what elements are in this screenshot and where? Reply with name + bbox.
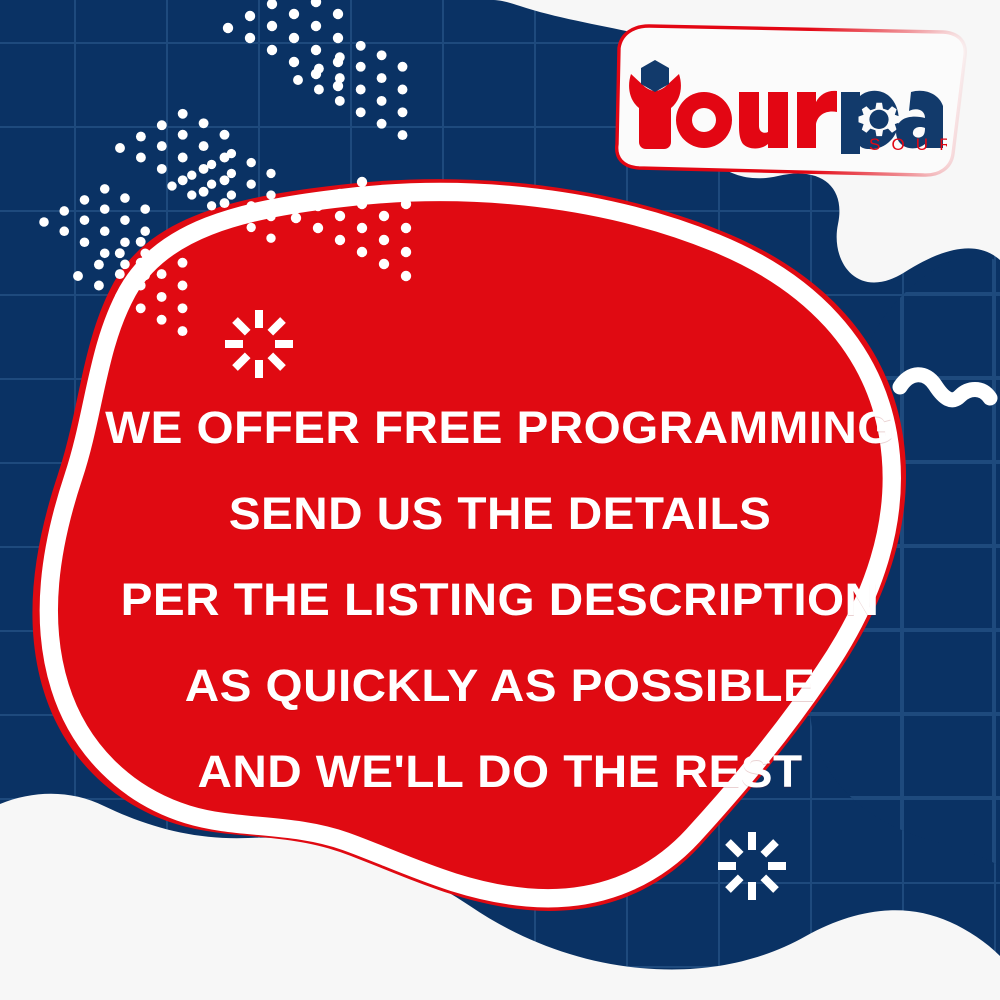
gear-icon (859, 103, 900, 136)
logo-badge[interactable]: S O U R C E (597, 22, 969, 184)
starburst-icon-top (225, 310, 293, 378)
starburst-icon-bottom (718, 832, 786, 900)
squiggle-icon (900, 375, 990, 400)
logo-tagline: S O U R C E (869, 135, 947, 154)
logo-wordmark: S O U R C E (625, 58, 947, 154)
logo-text-your (676, 91, 837, 149)
promotional-poster: WE OFFER FREE PROGRAMMING SEND US THE DE… (0, 0, 1000, 1000)
